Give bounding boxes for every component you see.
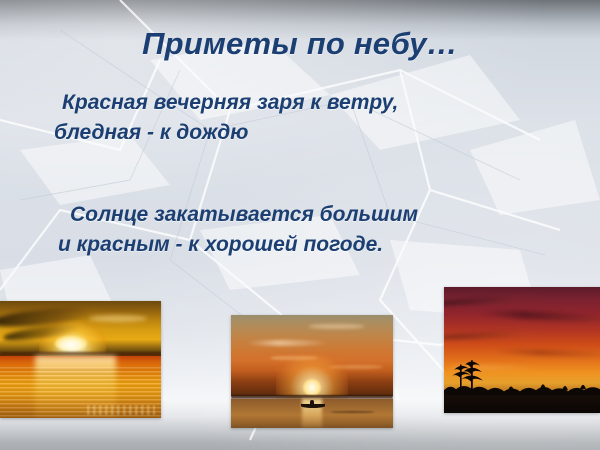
- photo-golden-sunset-over-water: Золотой закат над водой: [0, 301, 161, 418]
- proverb-red-sunset-line-1: Красная вечерняя заря к ветру,: [0, 88, 600, 118]
- tree-silhouettes: [444, 356, 600, 399]
- rower-silhouette: [310, 400, 315, 405]
- cloud-wisp-top: [309, 324, 364, 329]
- proverb-big-red-sun-line-1: Солнце закатывается большим: [0, 200, 600, 230]
- photo-fiery-sunset-with-trees: Багровый закат с силуэтами деревьев: [444, 287, 600, 413]
- water-wake: [331, 411, 373, 413]
- proverb-big-red-sun: Солнце закатывается большим и красным - …: [0, 200, 600, 260]
- photo-sunset-with-boat: Закат с лодкой на море: [231, 315, 393, 428]
- proverb-red-sunset: Красная вечерняя заря к ветру, бледная -…: [0, 88, 600, 148]
- proverb-big-red-sun-line-2: и красным - к хорошей погоде.: [0, 230, 600, 260]
- ground-silhouette: [444, 395, 600, 413]
- photo-watermark: [87, 405, 155, 414]
- slide: Приметы по небу… Красная вечерняя заря к…: [0, 0, 600, 450]
- cloud-wisp-upper: [247, 340, 325, 346]
- page-title: Приметы по небу…: [0, 26, 600, 62]
- proverb-red-sunset-line-2: бледная - к дождю: [0, 118, 600, 148]
- light-cloud-wisp: [89, 315, 147, 322]
